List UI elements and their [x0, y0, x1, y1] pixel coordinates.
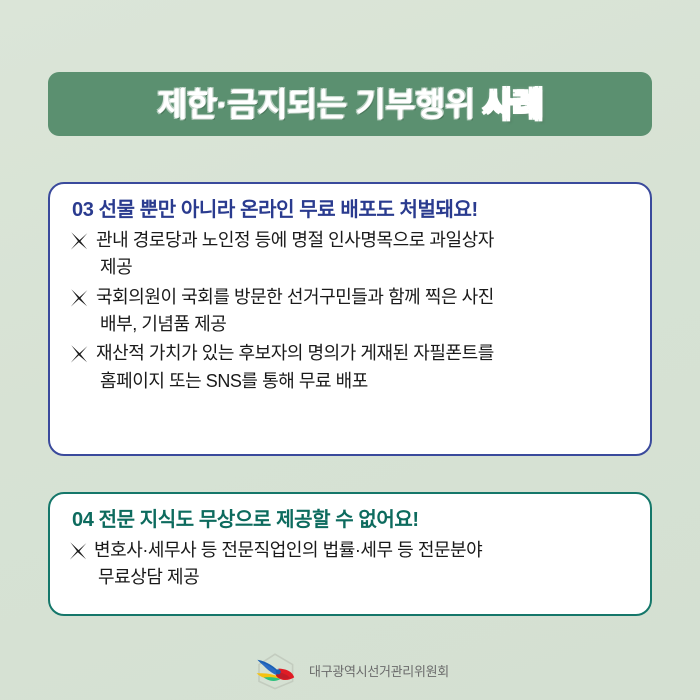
list-item-line-1: 재산적 가치가 있는 후보자의 명의가 게재된 자필폰트를 [96, 340, 632, 367]
footer: 대구광역시선거관리위원회 [0, 648, 700, 694]
list-item-line-1: 변호사·세무사 등 전문직업인의 법률·세무 등 전문분야 [94, 537, 632, 564]
infographic-page: 제한·금지되는 기부행위사례 03 선물 뿐만 아니라 온라인 무료 배포도 처… [0, 0, 700, 700]
list-item-line-1: 관내 경로당과 노인정 등에 명절 인사명목으로 과일상자 [96, 227, 632, 254]
header-banner: 제한·금지되는 기부행위사례 [48, 72, 652, 136]
list-item-line-2: 무료상담 제공 [98, 564, 632, 591]
x-mark-icon [68, 287, 90, 309]
content-card-03: 03 선물 뿐만 아니라 온라인 무료 배포도 처벌돼요! 관내 경로당과 노인… [48, 182, 652, 456]
content-card-04: 04 전문 지식도 무상으로 제공할 수 없어요! 변호사·세무사 등 전문직업… [48, 492, 652, 616]
list-item: 재산적 가치가 있는 후보자의 명의가 게재된 자필폰트를 홈페이지 또는 SN… [66, 340, 632, 395]
list-item: 변호사·세무사 등 전문직업인의 법률·세무 등 전문분야 무료상담 제공 [66, 537, 632, 592]
list-item-line-1: 국회의원이 국회를 방문한 선거구민들과 함께 찍은 사진 [96, 284, 632, 311]
banner-title-accent: 사례 [483, 86, 543, 123]
list-item-line-2: 홈페이지 또는 SNS를 통해 무료 배포 [100, 368, 632, 395]
list-item: 관내 경로당과 노인정 등에 명절 인사명목으로 과일상자 제공 [66, 227, 632, 282]
x-mark-icon [67, 540, 89, 562]
footer-organization: 대구광역시선거관리위원회 [309, 665, 449, 678]
card-04-bullet-list: 변호사·세무사 등 전문직업인의 법률·세무 등 전문분야 무료상담 제공 [66, 537, 632, 592]
banner-title-main: 제한·금지되는 기부행위 [157, 86, 475, 123]
list-item-line-2: 배부, 기념품 제공 [100, 311, 632, 338]
x-mark-icon [68, 343, 90, 365]
banner-title: 제한·금지되는 기부행위사례 [157, 88, 543, 121]
x-mark-icon [68, 230, 90, 252]
list-item: 국회의원이 국회를 방문한 선거구민들과 함께 찍은 사진 배부, 기념품 제공 [66, 284, 632, 339]
card-03-title: 03 선물 뿐만 아니라 온라인 무료 배포도 처벌돼요! [72, 198, 632, 223]
card-04-title: 04 전문 지식도 무상으로 제공할 수 없어요! [72, 508, 632, 533]
list-item-line-2: 제공 [100, 254, 632, 281]
nec-bird-logo [251, 651, 299, 691]
card-03-bullet-list: 관내 경로당과 노인정 등에 명절 인사명목으로 과일상자 제공 국회의원이 국… [66, 227, 632, 395]
